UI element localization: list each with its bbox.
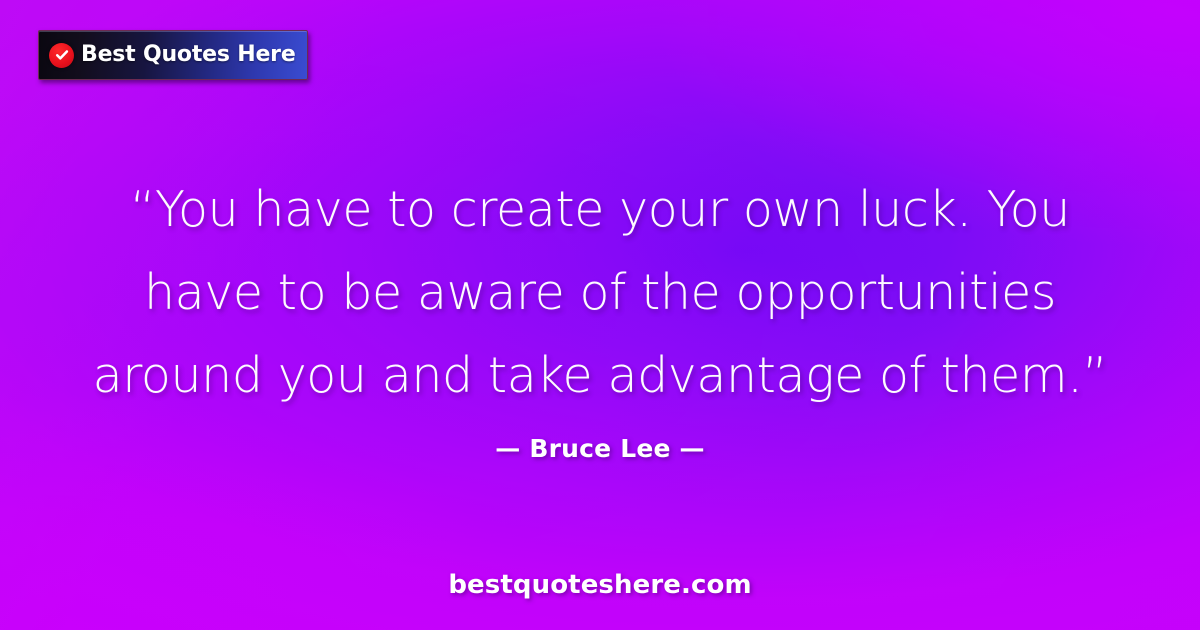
quote-card: Best Quotes Here “You have to create you… [0,0,1200,630]
quote-line-2: have to be aware of the opportunities [62,251,1138,334]
footer: bestquoteshere.com [0,570,1200,600]
website-url[interactable]: bestquoteshere.com [448,570,751,600]
quote-line-3: around you and take advantage of them.” [62,334,1138,417]
quote-attribution: — Bruce Lee — [0,434,1200,463]
brand-badge[interactable]: Best Quotes Here [38,30,308,80]
quote-text: “You have to create your own luck. You h… [0,168,1200,417]
check-circle-icon [49,43,74,68]
quote-line-1: “You have to create your own luck. You [62,168,1138,251]
author-name: — Bruce Lee — [495,434,705,463]
brand-title: Best Quotes Here [81,44,296,66]
